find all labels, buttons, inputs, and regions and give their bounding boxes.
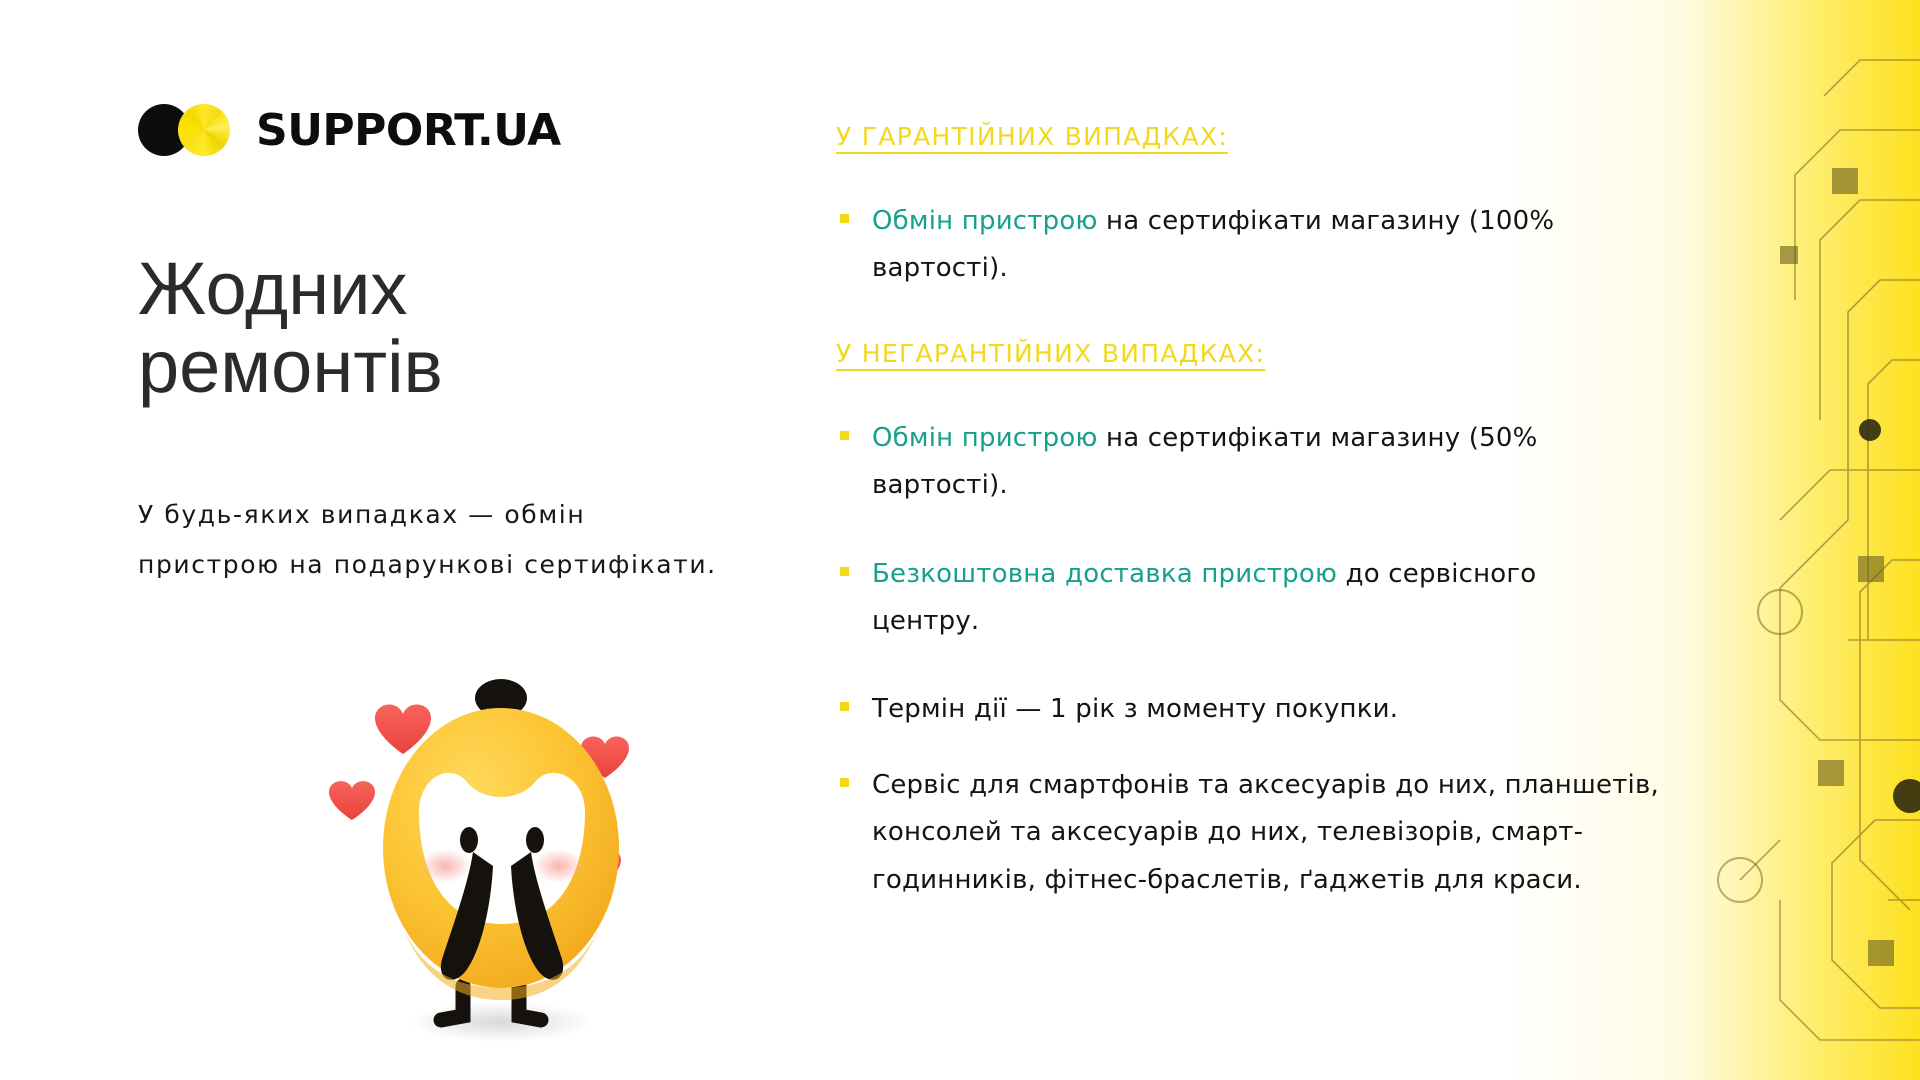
bullet-square-icon [840,431,849,440]
bullet-square-icon [840,567,849,576]
mascot-blush-left [419,849,471,883]
bullet-warranty-exchange: Обмін пристрою на сертифікати магазину (… [836,198,1672,293]
bullet-free-delivery: Безкоштовна доставка пристрою до сервісн… [836,551,1572,646]
logo-wordmark: SUPPORT.UA [256,105,561,156]
mascot-blush-right [533,849,585,883]
bullet-text: Термін дії — 1 рік з моменту покупки. [872,694,1398,724]
section-heading-non-warranty: У НЕГАРАНТІЙНИХ ВИПАДКАХ: [836,339,1265,368]
page-subtitle: У будь-яких випадках — обмін пристрою на… [138,490,718,590]
bullet-validity-term: Термін дії — 1 рік з моменту покупки. [836,686,1672,733]
logo-mark-icon [138,104,234,156]
support-mascot-illustration [323,670,683,1070]
mascot-eye-right [526,827,544,853]
headline-line-1: Жодних [138,247,407,330]
bullet-square-icon [840,702,849,711]
page-title: Жодних ремонтів [138,250,698,407]
heart-icon-left-lower [329,781,375,820]
logo-circle-yellow-icon [178,104,230,156]
bullet-highlight: Обмін пристрою [872,206,1098,236]
bullet-highlight: Безкоштовна доставка пристрою [872,559,1337,589]
bullet-highlight: Обмін пристрою [872,423,1098,453]
bullet-nonwarranty-exchange: Обмін пристрою на сертифікати магазину (… [836,415,1672,510]
brand-logo[interactable]: SUPPORT.UA [138,104,561,156]
bullet-covered-devices: Сервіс для смартфонів та аксесуарів до н… [836,762,1732,904]
mascot-svg [323,670,683,1070]
bullet-text: Сервіс для смартфонів та аксесуарів до н… [872,770,1659,895]
mascot-eye-left [460,827,478,853]
right-column: У ГАРАНТІЙНИХ ВИПАДКАХ: Обмін пристрою н… [836,0,1776,1080]
section-heading-warranty: У ГАРАНТІЙНИХ ВИПАДКАХ: [836,122,1228,151]
bullet-square-icon [840,778,849,787]
headline-line-2: ремонтів [138,328,698,406]
slide-root: SUPPORT.UA Жодних ремонтів У будь-яких в… [0,0,1920,1080]
left-column: SUPPORT.UA Жодних ремонтів У будь-яких в… [138,0,758,1080]
bullet-square-icon [840,214,849,223]
